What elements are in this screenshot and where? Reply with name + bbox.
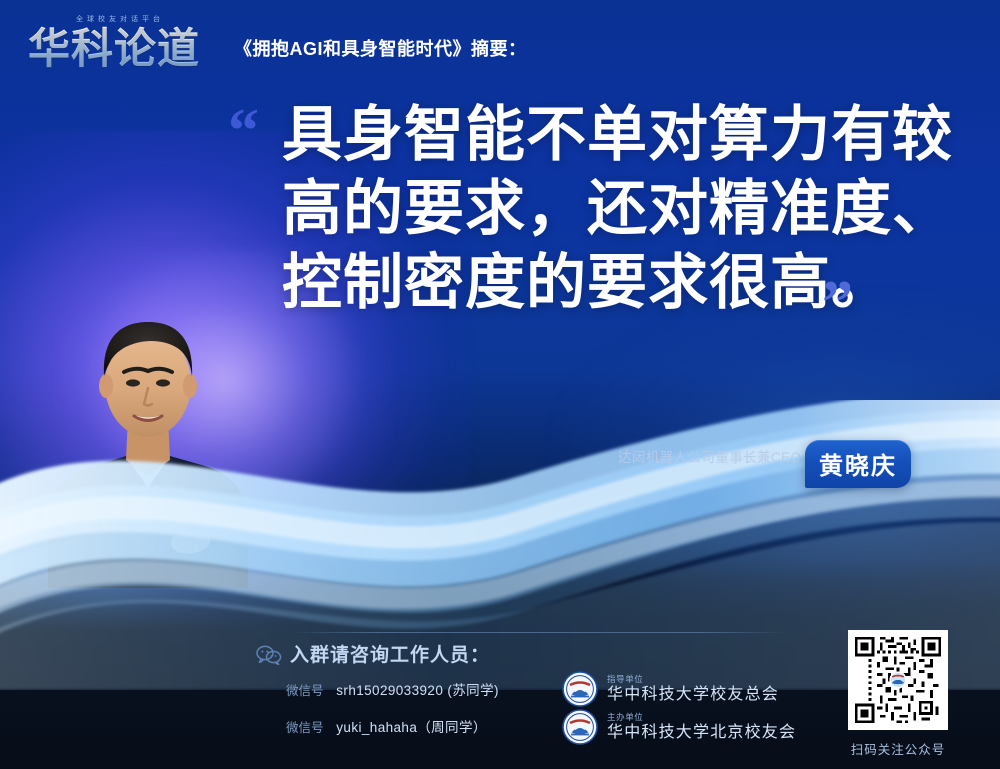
- organization-name: 华中科技大学北京校友会: [607, 725, 796, 741]
- contact-label: 微信号: [286, 684, 324, 698]
- quote-close-mark: ”: [822, 272, 851, 334]
- speaker-role: 达闼机器人公司董事长兼CEO: [618, 446, 801, 466]
- organization-row: 指导单位 华中科技大学校友总会: [562, 671, 779, 707]
- poster-root: 全球校友对话平台 华科论道 《拥抱AGI和具身智能时代》摘要： “ 具身智能不单…: [0, 0, 1000, 769]
- contact-value: srh15029033920 (苏同学): [336, 683, 499, 698]
- wechat-icon: [256, 645, 282, 665]
- qr-section: 扫码关注公众号: [838, 630, 958, 758]
- organization-kicker: 指导单位: [607, 675, 779, 684]
- contact-row[interactable]: 微信号 srh15029033920 (苏同学): [286, 679, 499, 699]
- qr-code[interactable]: [848, 630, 948, 730]
- quote-open-mark: “: [228, 100, 257, 162]
- quote-line: 高的要求，还对精准度、: [282, 172, 962, 246]
- footer-divider: [288, 632, 788, 633]
- organization-row: 主办单位 华中科技大学北京校友会: [562, 709, 796, 745]
- organization-name: 华中科技大学校友总会: [607, 687, 779, 703]
- contact-value: yuki_hahaha（周同学）: [336, 720, 486, 735]
- organization-kicker: 主办单位: [607, 713, 796, 722]
- contact-label: 微信号: [286, 721, 324, 735]
- quote-line: 具身智能不单对算力有较: [282, 98, 962, 172]
- brand-tagline: 全球校友对话平台: [76, 14, 164, 24]
- quote-line: 控制密度的要求很高。: [282, 246, 962, 320]
- brand-logo-text: 华科论道: [28, 18, 220, 70]
- brand-logo[interactable]: 全球校友对话平台 华科论道: [28, 18, 220, 70]
- university-emblem-icon: [562, 709, 598, 745]
- contact-row[interactable]: 微信号 yuki_hahaha（周同学）: [286, 716, 487, 736]
- footer-heading: 入群请咨询工作人员：: [290, 640, 490, 667]
- attribution: 达闼机器人公司董事长兼CEO: [618, 446, 801, 466]
- qr-caption: 扫码关注公众号: [838, 739, 958, 758]
- quote-text: 具身智能不单对算力有较 高的要求，还对精准度、 控制密度的要求很高。: [282, 98, 962, 320]
- university-emblem-icon: [562, 671, 598, 707]
- poster-header: 全球校友对话平台 华科论道 《拥抱AGI和具身智能时代》摘要：: [28, 18, 527, 70]
- speaker-name-badge: 黄晓庆: [805, 440, 911, 488]
- page-title: 《拥抱AGI和具身智能时代》摘要：: [234, 35, 527, 70]
